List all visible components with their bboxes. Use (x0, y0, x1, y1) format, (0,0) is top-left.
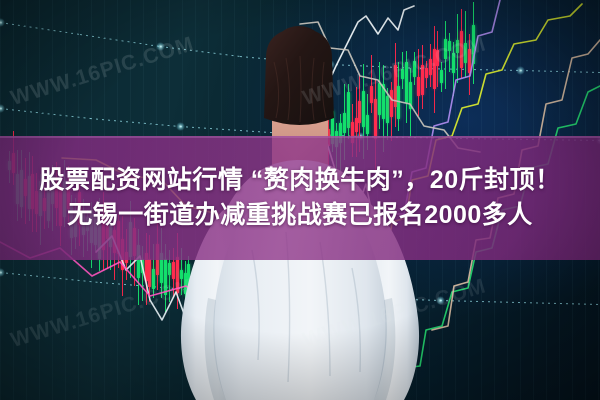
article-cover-image: 股票配资网站行情 “赘肉换牛肉”，20斤封顶！ 无锡一街道办减重挑战赛已报名20… (0, 0, 600, 400)
caption-line-1: 股票配资网站行情 “赘肉换牛肉”，20斤封顶！ (39, 166, 560, 195)
caption-line-2: 无锡一街道办减重挑战赛已报名2000多人 (67, 201, 533, 230)
caption-text-block: 股票配资网站行情 “赘肉换牛肉”，20斤封顶！ 无锡一街道办减重挑战赛已报名20… (0, 136, 600, 260)
